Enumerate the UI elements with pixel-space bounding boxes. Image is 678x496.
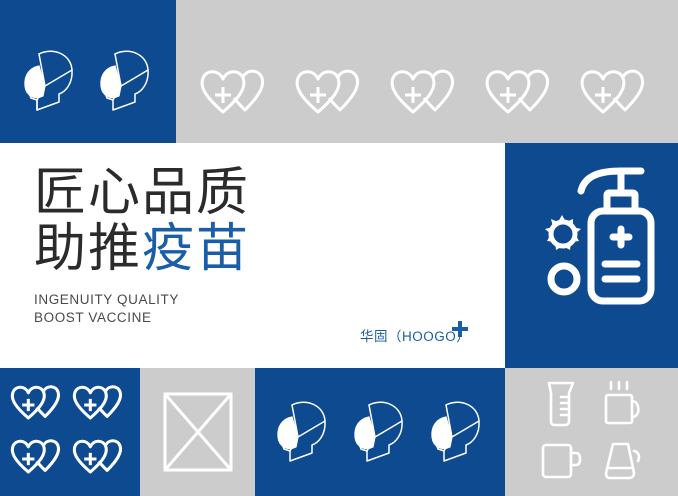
subtitle-block: INGENUITY QUALITY BOOST VACCINE	[34, 291, 179, 327]
germ-icon	[545, 215, 581, 250]
bottom-mask-row	[255, 368, 505, 496]
top-hearts-row	[176, 0, 678, 143]
masked-face-icon	[95, 44, 157, 118]
double-heart-plus-icon	[199, 65, 275, 125]
sanitizer-panel	[505, 143, 678, 368]
bottom-hearts-panel	[0, 368, 140, 496]
masked-face-icon	[19, 44, 81, 118]
headline-block: 匠心品质 助推疫苗	[34, 165, 250, 277]
top-hearts-band	[176, 0, 678, 143]
xbox-wrap	[140, 368, 255, 496]
headline-line-2: 助推疫苗	[34, 221, 250, 277]
bottom-vessels-panel	[505, 368, 678, 496]
top-left-mask-panel	[0, 0, 176, 143]
headline-line-2-accent: 疫苗	[142, 219, 250, 279]
double-heart-plus-icon	[72, 382, 130, 428]
mug-icon	[538, 437, 584, 483]
double-heart-plus-icon	[72, 436, 130, 482]
vessels-grid	[505, 368, 678, 496]
headline-line-1: 匠心品质	[34, 165, 250, 221]
bottom-placeholder-panel	[140, 368, 255, 496]
double-heart-plus-icon	[484, 65, 560, 125]
kettle-icon	[599, 437, 645, 483]
germ-ring-icon	[551, 266, 577, 292]
subtitle-line-1: INGENUITY QUALITY	[34, 291, 179, 309]
double-heart-plus-icon	[389, 65, 465, 125]
double-heart-plus-icon	[10, 436, 68, 482]
headline-line-2-plain: 助推	[34, 219, 142, 279]
double-heart-plus-icon	[294, 65, 370, 125]
hand-sanitizer-bottle-icon	[581, 171, 651, 301]
crossed-box-placeholder-icon	[162, 391, 234, 473]
measuring-beaker-icon	[541, 379, 581, 429]
top-mask-row	[0, 0, 176, 143]
bottom-hearts-grid	[0, 368, 140, 496]
double-heart-plus-icon	[579, 65, 655, 125]
plus-icon	[450, 319, 470, 339]
steaming-cup-icon	[599, 379, 645, 429]
masked-face-icon	[272, 395, 334, 469]
masked-face-icon	[426, 395, 488, 469]
main-content-panel: 匠心品质 助推疫苗 INGENUITY QUALITY BOOST VACCIN…	[0, 143, 505, 368]
sanitizer-icon-wrap	[505, 143, 678, 368]
double-heart-plus-icon	[10, 382, 68, 428]
bottom-mask-panel	[255, 368, 505, 496]
masked-face-icon	[349, 395, 411, 469]
poster-canvas: 匠心品质 助推疫苗 INGENUITY QUALITY BOOST VACCIN…	[0, 0, 678, 496]
subtitle-line-2: BOOST VACCINE	[34, 309, 179, 327]
